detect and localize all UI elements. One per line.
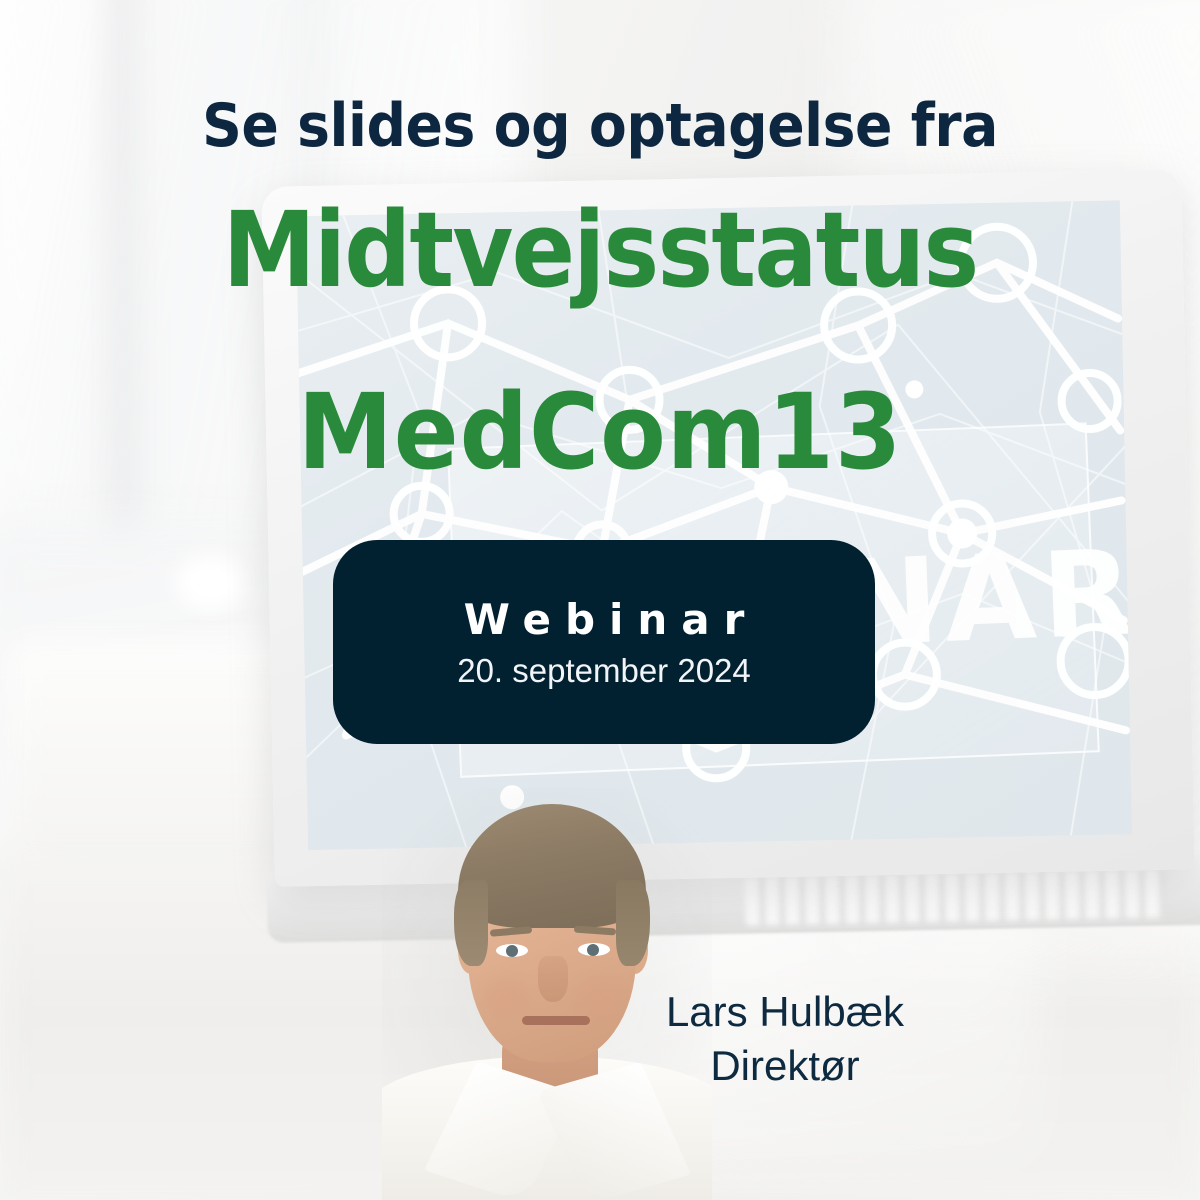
speaker-role: Direktør bbox=[620, 1039, 950, 1093]
page-title: Midtvejsstatus MedCom13 bbox=[0, 198, 1200, 484]
portrait-cheek-right bbox=[578, 980, 618, 1014]
page-title-line-1: Midtvejsstatus bbox=[60, 198, 1140, 302]
speaker-caption: Lars Hulbæk Direktør bbox=[620, 985, 950, 1093]
badge-label: Webinar bbox=[450, 595, 759, 644]
webinar-badge: Webinar 20. september 2024 bbox=[333, 540, 875, 744]
webinar-promo-poster: WEBINAR Se slides og optagelse fra Midtv… bbox=[0, 0, 1200, 1200]
portrait-nose bbox=[538, 956, 568, 1002]
portrait-hair-side-right bbox=[616, 880, 650, 966]
background-cup-highlight bbox=[175, 555, 245, 610]
background-cup bbox=[10, 640, 310, 890]
page-headline: Se slides og optagelse fra bbox=[48, 96, 1152, 156]
portrait-hair-side-left bbox=[454, 880, 488, 966]
badge-date: 20. september 2024 bbox=[457, 652, 751, 690]
portrait-mouth bbox=[522, 1016, 590, 1025]
portrait-iris-left bbox=[506, 945, 518, 957]
speaker-name: Lars Hulbæk bbox=[620, 985, 950, 1039]
laptop-keyboard bbox=[745, 870, 1166, 926]
portrait-iris-right bbox=[587, 944, 599, 956]
portrait-cheek-left bbox=[486, 980, 526, 1014]
page-title-line-2: MedCom13 bbox=[48, 380, 1152, 484]
